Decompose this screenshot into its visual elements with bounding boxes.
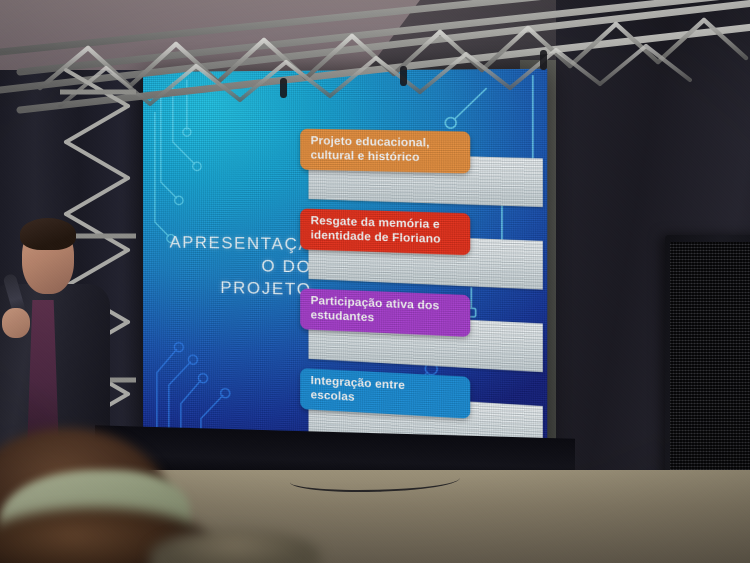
slide-bullet-list: Projeto educacional, cultural e históric…	[300, 130, 545, 460]
presenter-with-microphone	[0, 222, 114, 452]
stage-photo-scene: APRESENTAÇÃ O DO PROJETO Projeto educaci…	[0, 0, 750, 563]
chip-projeto-educacional: Projeto educacional, cultural e históric…	[300, 129, 470, 174]
chip-participacao-estudantes: Participação ativa dos estudantes	[300, 288, 470, 337]
chip-resgate-memoria: Resgate da memória e identidade de Flori…	[300, 208, 470, 255]
list-item: Projeto educacional, cultural e históric…	[300, 130, 545, 213]
slide-title-line-1: APRESENTAÇÃ	[159, 232, 312, 257]
presenter-hand	[2, 308, 30, 338]
list-item: Resgate da memória e identidade de Flori…	[300, 210, 545, 296]
speaker-grille	[670, 242, 750, 473]
presenter-hair	[20, 218, 76, 250]
pa-speaker-cabinet	[665, 235, 750, 495]
slide-title: APRESENTAÇÃ O DO PROJETO	[159, 232, 312, 301]
chip-line-2: cultural e histórico	[311, 149, 461, 167]
slide-title-line-3: PROJETO	[159, 276, 312, 302]
list-item: Participação ativa dos estudantes	[300, 290, 545, 378]
led-video-wall: APRESENTAÇÃ O DO PROJETO Projeto educaci…	[143, 69, 547, 465]
